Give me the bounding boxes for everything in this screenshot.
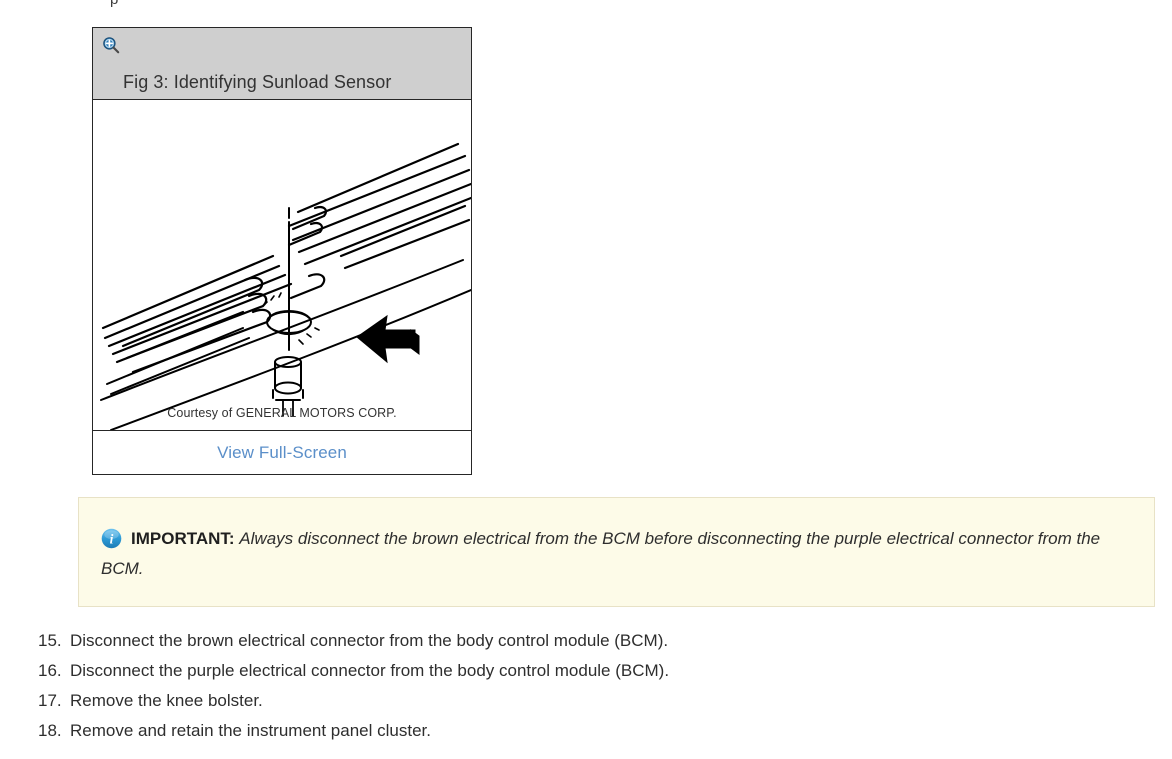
list-item-text: Remove and retain the instrument panel c… (70, 716, 431, 746)
procedure-list: 15. Disconnect the brown electrical conn… (38, 626, 1038, 746)
list-item-text: Disconnect the brown electrical connecto… (70, 626, 668, 656)
zoom-in-icon[interactable] (102, 36, 120, 54)
figure-card: Fig 3: Identifying Sunload Sensor (92, 27, 472, 475)
list-item-number: 17. (38, 686, 70, 716)
callout-label: IMPORTANT: (131, 529, 235, 548)
list-item-text: Disconnect the purple electrical connect… (70, 656, 669, 686)
view-fullscreen-link[interactable]: View Full-Screen (217, 443, 347, 463)
figure-image[interactable]: Courtesy of GENERAL MOTORS CORP. (93, 100, 471, 431)
clipped-text-fragment: p (110, 0, 119, 8)
list-item: 16. Disconnect the purple electrical con… (38, 656, 1038, 686)
list-item: 15. Disconnect the brown electrical conn… (38, 626, 1038, 656)
callout-body: i IMPORTANT: Always disconnect the brown… (101, 524, 1130, 584)
figure-title: Fig 3: Identifying Sunload Sensor (123, 72, 391, 93)
sunload-sensor-line-drawing (93, 100, 471, 430)
list-item-text: Remove the knee bolster. (70, 686, 263, 716)
list-item-number: 18. (38, 716, 70, 746)
info-circle-icon: i (101, 528, 122, 549)
list-item-number: 16. (38, 656, 70, 686)
list-item: 18. Remove and retain the instrument pan… (38, 716, 1038, 746)
figure-credit: Courtesy of GENERAL MOTORS CORP. (93, 406, 471, 420)
svg-text:i: i (110, 532, 114, 547)
list-item-number: 15. (38, 626, 70, 656)
important-callout: i IMPORTANT: Always disconnect the brown… (78, 497, 1155, 607)
callout-text: Always disconnect the brown electrical f… (101, 529, 1100, 578)
figure-footer: View Full-Screen (93, 431, 471, 474)
list-item: 17. Remove the knee bolster. (38, 686, 1038, 716)
figure-header: Fig 3: Identifying Sunload Sensor (93, 28, 471, 100)
